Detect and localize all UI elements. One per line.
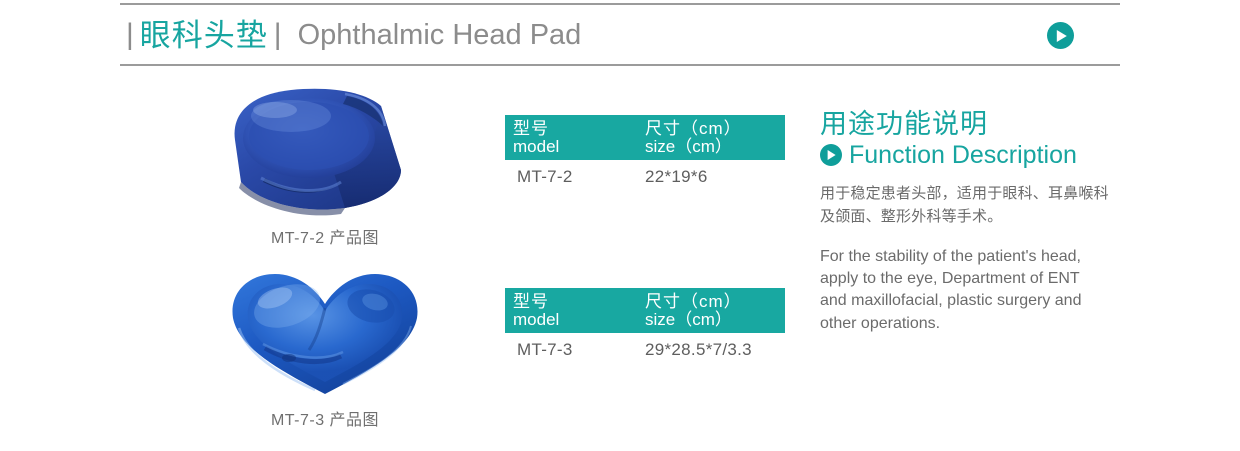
page-title-cn: 眼科头垫 xyxy=(140,20,268,51)
table-header-row: 型号 model 尺寸（cm） size（cm） xyxy=(505,115,785,160)
description-body-cn: 用于稳定患者头部，适用于眼科、耳鼻喉科及颌面、整形外科等手术。 xyxy=(820,182,1110,229)
column-header-model-cn: 型号 xyxy=(513,120,637,138)
header-play-button[interactable] xyxy=(1047,22,1074,49)
description-title-en: Function Description xyxy=(849,142,1077,170)
wedge-head-pad-photo xyxy=(205,78,445,218)
header-rule-bottom xyxy=(120,64,1120,66)
table-row: MT-7-3 29*28.5*7/3.3 xyxy=(505,333,785,360)
title-divider-left: | xyxy=(126,20,134,50)
column-header-model-en: model xyxy=(513,311,637,329)
description-body-en: For the stability of the patient's head,… xyxy=(820,246,1110,336)
cell-size: 22*19*6 xyxy=(637,160,785,187)
page-title-en: Ophthalmic Head Pad xyxy=(298,21,582,50)
table-row: MT-7-2 22*19*6 xyxy=(505,160,785,187)
function-description-panel: 用途功能说明 Function Description 用于稳定患者头部，适用于… xyxy=(820,110,1110,335)
column-header-size-en: size（cm） xyxy=(645,138,785,156)
product-item: MT-7-3 产品图 xyxy=(205,262,445,430)
product-item: MT-7-2 产品图 xyxy=(205,78,445,248)
heart-head-pad-photo xyxy=(205,262,445,400)
cell-model: MT-7-2 xyxy=(505,160,637,187)
column-header-model-cn: 型号 xyxy=(513,293,637,311)
column-header-size-en: size（cm） xyxy=(645,311,785,329)
column-header-size: 尺寸（cm） size（cm） xyxy=(637,288,785,333)
column-header-model-en: model xyxy=(513,138,637,156)
column-header-size-cn: 尺寸（cm） xyxy=(645,293,785,311)
product-caption: MT-7-2 产品图 xyxy=(205,224,445,248)
product-gallery: MT-7-2 产品图 xyxy=(205,78,445,430)
spec-table-mt-7-3: 型号 model 尺寸（cm） size（cm） MT-7-3 29*28.5*… xyxy=(505,288,785,360)
spec-table-mt-7-2: 型号 model 尺寸（cm） size（cm） MT-7-2 22*19*6 xyxy=(505,115,785,187)
page-header: | 眼科头垫 | Ophthalmic Head Pad xyxy=(120,6,1120,64)
column-header-model: 型号 model xyxy=(505,115,637,160)
description-title-cn: 用途功能说明 xyxy=(820,110,1110,140)
header-rule-top xyxy=(120,3,1120,5)
column-header-model: 型号 model xyxy=(505,288,637,333)
play-circle-icon xyxy=(820,144,842,166)
play-circle-icon xyxy=(1047,22,1074,49)
cell-model: MT-7-3 xyxy=(505,333,637,360)
title-divider-right: | xyxy=(274,20,282,50)
column-header-size-cn: 尺寸（cm） xyxy=(645,120,785,138)
description-title-en-row: Function Description xyxy=(820,142,1110,170)
product-caption: MT-7-3 产品图 xyxy=(205,406,445,430)
table-header-row: 型号 model 尺寸（cm） size（cm） xyxy=(505,288,785,333)
column-header-size: 尺寸（cm） size（cm） xyxy=(637,115,785,160)
cell-size: 29*28.5*7/3.3 xyxy=(637,333,785,360)
